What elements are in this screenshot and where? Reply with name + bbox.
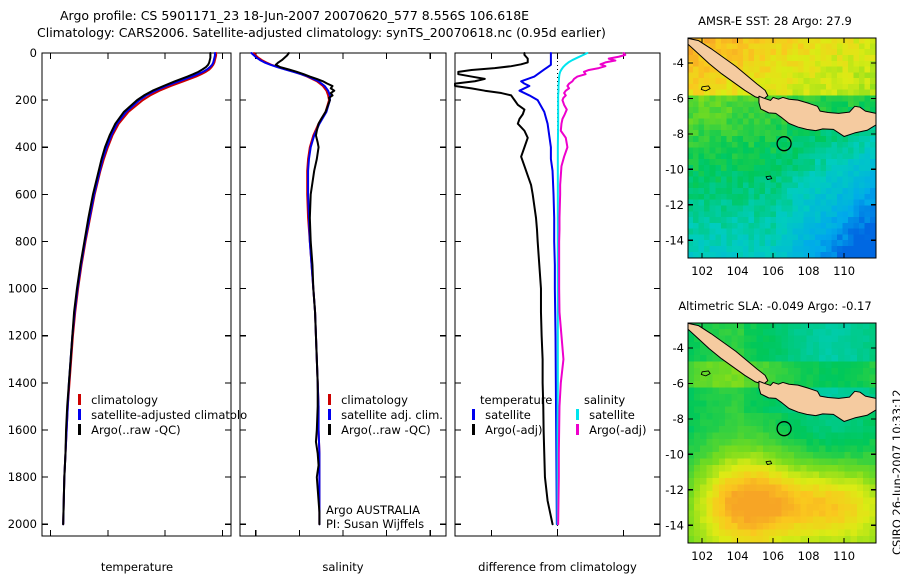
raster-cell (731, 426, 738, 433)
raster-cell (804, 142, 810, 149)
raster-cell (754, 107, 760, 114)
raster-cell (820, 148, 826, 155)
raster-cell (865, 229, 871, 236)
raster-cell (820, 171, 826, 178)
raster-cell (800, 368, 807, 375)
raster-cell (809, 84, 815, 91)
raster-cell (851, 452, 858, 459)
raster-cell (800, 510, 807, 517)
raster-cell (765, 200, 771, 207)
raster-cell (793, 177, 799, 184)
raster-cell (719, 497, 726, 504)
raster-cell (743, 205, 749, 212)
raster-cell (771, 49, 777, 56)
raster-cell (759, 177, 765, 184)
raster-cell (732, 171, 738, 178)
raster-cell (857, 491, 864, 498)
raster-cell (699, 67, 705, 74)
difference-axis-label: difference from climatology (455, 560, 660, 574)
raster-cell (732, 107, 738, 114)
raster-cell (776, 205, 782, 212)
raster-cell (825, 374, 832, 381)
raster-cell (800, 348, 807, 355)
raster-cell (815, 136, 821, 143)
raster-cell (831, 136, 837, 143)
raster-cell (757, 478, 764, 485)
raster-cell (782, 49, 788, 56)
raster-cell (838, 426, 845, 433)
raster-cell (863, 381, 870, 388)
raster-cell (757, 510, 764, 517)
raster-cell (807, 517, 814, 524)
raster-cell (869, 323, 876, 330)
legend-swatch-argo (78, 424, 81, 435)
raster-cell (738, 381, 745, 388)
raster-cell (704, 182, 710, 189)
raster-cell (737, 124, 743, 131)
legend-item: satellite adj. clim. (328, 406, 443, 421)
raster-cell (853, 165, 859, 172)
raster-cell (826, 200, 832, 207)
raster-cell (869, 413, 876, 420)
raster-cell (793, 49, 799, 56)
raster-cell (794, 536, 801, 543)
raster-cell (732, 55, 738, 62)
raster-cell (865, 55, 871, 62)
raster-cell (788, 368, 795, 375)
raster-cell (694, 413, 701, 420)
raster-cell (825, 523, 832, 530)
raster-cell (851, 420, 858, 427)
raster-cell (831, 55, 837, 62)
raster-cell (865, 142, 871, 149)
raster-cell (775, 491, 782, 498)
raster-cell (807, 471, 814, 478)
raster-cell (704, 95, 710, 102)
raster-cell (853, 90, 859, 97)
raster-cell (765, 153, 771, 160)
raster-cell (763, 517, 770, 524)
raster-cell (710, 78, 716, 85)
raster-cell (794, 336, 801, 343)
raster-cell (719, 374, 726, 381)
raster-cell (706, 323, 713, 330)
raster-cell (769, 491, 776, 498)
raster-cell (721, 142, 727, 149)
raster-cell (863, 348, 870, 355)
raster-cell (807, 452, 814, 459)
raster-cell (788, 342, 795, 349)
raster-cell (704, 159, 710, 166)
raster-cell (842, 49, 848, 56)
raster-cell (820, 229, 826, 236)
raster-cell (706, 361, 713, 368)
raster-cell (725, 517, 732, 524)
raster-cell (757, 491, 764, 498)
raster-cell (837, 246, 843, 253)
raster-cell (782, 368, 789, 375)
raster-cell (826, 171, 832, 178)
raster-cell (757, 348, 764, 355)
raster-cell (838, 387, 845, 394)
raster-cell (853, 211, 859, 218)
raster-cell (842, 84, 848, 91)
legend-item: satellite-adjusted climatolo (78, 406, 247, 421)
legend-item: climatology (78, 391, 247, 406)
raster-cell (831, 78, 837, 85)
raster-cell (815, 188, 821, 195)
raster-cell (787, 200, 793, 207)
raster-cell (794, 433, 801, 440)
raster-cell (800, 342, 807, 349)
raster-cell (763, 452, 770, 459)
raster-cell (804, 130, 810, 137)
raster-cell (782, 355, 789, 362)
raster-cell (800, 491, 807, 498)
raster-cell (800, 329, 807, 336)
raster-cell (725, 446, 732, 453)
raster-cell (694, 368, 701, 375)
raster-cell (750, 510, 757, 517)
raster-cell (725, 336, 732, 343)
raster-cell (693, 124, 699, 131)
raster-cell (694, 484, 701, 491)
raster-cell (782, 536, 789, 543)
raster-cell (693, 130, 699, 137)
raster-cell (800, 355, 807, 362)
raster-cell (865, 234, 871, 241)
raster-cell (737, 194, 743, 201)
raster-cell (851, 348, 858, 355)
raster-cell (710, 130, 716, 137)
raster-cell (831, 234, 837, 241)
raster-cell (699, 234, 705, 241)
raster-cell (800, 452, 807, 459)
y-tick-label: 0 (30, 46, 37, 60)
raster-cell (793, 234, 799, 241)
raster-cell (782, 323, 789, 330)
y-tick-label: 800 (15, 234, 37, 248)
raster-cell (782, 452, 789, 459)
raster-cell (693, 229, 699, 236)
figure-title-line1: Argo profile: CS 5901171_23 18-Jun-2007 … (60, 8, 529, 24)
raster-cell (825, 336, 832, 343)
raster-cell (807, 465, 814, 472)
raster-cell (859, 171, 865, 178)
raster-cell (688, 497, 695, 504)
raster-cell (857, 471, 864, 478)
raster-cell (815, 182, 821, 189)
raster-cell (815, 159, 821, 166)
raster-cell (731, 446, 738, 453)
raster-cell (853, 43, 859, 50)
raster-cell (694, 530, 701, 537)
raster-cell (688, 407, 695, 414)
raster-cell (771, 72, 777, 79)
raster-cell (754, 55, 760, 62)
raster-cell (726, 182, 732, 189)
raster-cell (769, 342, 776, 349)
raster-cell (853, 217, 859, 224)
raster-cell (863, 342, 870, 349)
raster-cell (757, 329, 764, 336)
raster-cell (832, 342, 839, 349)
raster-cell (731, 400, 738, 407)
raster-cell (721, 182, 727, 189)
raster-cell (726, 246, 732, 253)
raster-cell (853, 142, 859, 149)
raster-cell (782, 458, 789, 465)
raster-cell (726, 142, 732, 149)
raster-cell (721, 107, 727, 114)
raster-cell (851, 381, 858, 388)
raster-cell (715, 188, 721, 195)
raster-cell (859, 84, 865, 91)
raster-cell (725, 433, 732, 440)
raster-cell (807, 510, 814, 517)
raster-cell (798, 240, 804, 247)
raster-cell (699, 171, 705, 178)
raster-cell (757, 471, 764, 478)
raster-cell (782, 78, 788, 85)
raster-cell (726, 171, 732, 178)
raster-cell (813, 458, 820, 465)
raster-cell (782, 426, 789, 433)
raster-cell (706, 465, 713, 472)
raster-cell (798, 55, 804, 62)
raster-cell (737, 55, 743, 62)
raster-cell (825, 439, 832, 446)
raster-cell (715, 107, 721, 114)
raster-cell (763, 465, 770, 472)
difference-plot: -202 (450, 40, 666, 540)
raster-cell (800, 336, 807, 343)
raster-cell (853, 194, 859, 201)
raster-cell (750, 342, 757, 349)
raster-cell (794, 426, 801, 433)
raster-cell (688, 458, 695, 465)
raster-cell (826, 84, 832, 91)
raster-cell (813, 446, 820, 453)
raster-cell (869, 381, 876, 388)
raster-cell (869, 471, 876, 478)
raster-cell (794, 446, 801, 453)
raster-cell (688, 517, 695, 524)
raster-cell (782, 471, 789, 478)
raster-cell (765, 78, 771, 85)
difference-legend-salinity: salinity satellite Argo(-adj) (576, 391, 647, 436)
raster-cell (748, 130, 754, 137)
raster-cell (750, 484, 757, 491)
raster-cell (775, 355, 782, 362)
raster-cell (757, 458, 764, 465)
raster-cell (688, 348, 695, 355)
raster-cell (820, 55, 826, 62)
raster-cell (787, 194, 793, 201)
raster-cell (721, 171, 727, 178)
raster-cell (819, 465, 826, 472)
legend-swatch-sal-argo (576, 424, 579, 435)
raster-cell (759, 246, 765, 253)
raster-cell (757, 361, 764, 368)
raster-cell (769, 400, 776, 407)
raster-cell (842, 72, 848, 79)
raster-cell (743, 148, 749, 155)
raster-cell (851, 368, 858, 375)
series-argo-raw-qc- (276, 53, 334, 524)
raster-cell (857, 342, 864, 349)
raster-cell (844, 336, 851, 343)
raster-cell (863, 355, 870, 362)
raster-cell (757, 536, 764, 543)
y-tick-label: 1800 (8, 470, 37, 484)
y-tick-label: 600 (15, 187, 37, 201)
raster-cell (865, 49, 871, 56)
raster-cell (763, 342, 770, 349)
raster-cell (726, 188, 732, 195)
raster-cell (851, 497, 858, 504)
raster-cell (793, 61, 799, 68)
raster-cell (838, 329, 845, 336)
raster-cell (788, 484, 795, 491)
raster-cell (857, 484, 864, 491)
raster-cell (825, 433, 832, 440)
raster-cell (743, 240, 749, 247)
raster-cell (754, 153, 760, 160)
raster-cell (738, 530, 745, 537)
raster-cell (738, 426, 745, 433)
raster-cell (715, 148, 721, 155)
raster-cell (748, 217, 754, 224)
raster-cell (838, 342, 845, 349)
raster-cell (848, 90, 854, 97)
raster-cell (804, 84, 810, 91)
raster-cell (744, 536, 751, 543)
raster-cell (826, 101, 832, 108)
raster-cell (688, 465, 695, 472)
raster-cell (750, 439, 757, 446)
raster-cell (732, 188, 738, 195)
raster-cell (713, 439, 720, 446)
raster-cell (771, 124, 777, 131)
raster-cell (825, 484, 832, 491)
raster-cell (798, 165, 804, 172)
raster-cell (704, 119, 710, 126)
raster-cell (787, 148, 793, 155)
raster-cell (754, 234, 760, 241)
raster-cell (710, 217, 716, 224)
raster-cell (757, 413, 764, 420)
raster-cell (688, 426, 695, 433)
raster-cell (700, 348, 707, 355)
raster-cell (798, 90, 804, 97)
raster-cell (809, 246, 815, 253)
raster-cell (815, 49, 821, 56)
raster-cell (694, 510, 701, 517)
raster-cell (693, 217, 699, 224)
series-climatology (63, 53, 216, 524)
raster-cell (721, 95, 727, 102)
raster-cell (838, 504, 845, 511)
raster-cell (732, 124, 738, 131)
raster-cell (813, 530, 820, 537)
raster-cell (710, 113, 716, 120)
raster-cell (744, 478, 751, 485)
raster-cell (837, 101, 843, 108)
raster-cell (793, 211, 799, 218)
raster-cell (782, 329, 789, 336)
raster-cell (820, 78, 826, 85)
raster-cell (819, 323, 826, 330)
raster-cell (837, 90, 843, 97)
raster-cell (793, 205, 799, 212)
raster-cell (794, 484, 801, 491)
raster-cell (838, 497, 845, 504)
raster-cell (807, 504, 814, 511)
raster-cell (693, 240, 699, 247)
raster-cell (807, 323, 814, 330)
raster-cell (725, 471, 732, 478)
raster-cell (710, 101, 716, 108)
raster-cell (842, 136, 848, 143)
raster-cell (857, 348, 864, 355)
raster-cell (853, 200, 859, 207)
raster-cell (765, 159, 771, 166)
raster-cell (775, 439, 782, 446)
raster-cell (851, 491, 858, 498)
raster-cell (738, 342, 745, 349)
raster-cell (832, 478, 839, 485)
raster-cell (837, 205, 843, 212)
raster-cell (775, 323, 782, 330)
raster-cell (787, 205, 793, 212)
raster-cell (793, 194, 799, 201)
raster-cell (715, 124, 721, 131)
raster-cell (793, 159, 799, 166)
raster-cell (787, 223, 793, 230)
raster-cell (848, 55, 854, 62)
raster-cell (807, 433, 814, 440)
raster-cell (719, 517, 726, 524)
raster-cell (844, 329, 851, 336)
raster-cell (832, 523, 839, 530)
raster-cell (763, 530, 770, 537)
raster-cell (757, 452, 764, 459)
raster-cell (704, 78, 710, 85)
raster-cell (731, 407, 738, 414)
raster-cell (798, 188, 804, 195)
raster-cell (710, 171, 716, 178)
raster-cell (737, 95, 743, 102)
raster-cell (700, 387, 707, 394)
raster-cell (713, 523, 720, 530)
raster-cell (765, 188, 771, 195)
raster-cell (837, 217, 843, 224)
raster-cell (826, 165, 832, 172)
raster-cell (738, 504, 745, 511)
raster-cell (782, 211, 788, 218)
raster-cell (776, 159, 782, 166)
raster-cell (700, 484, 707, 491)
raster-cell (743, 101, 749, 108)
raster-cell (704, 171, 710, 178)
raster-cell (765, 72, 771, 79)
raster-cell (759, 165, 765, 172)
raster-cell (769, 420, 776, 427)
raster-cell (851, 484, 858, 491)
raster-cell (809, 177, 815, 184)
raster-cell (844, 368, 851, 375)
